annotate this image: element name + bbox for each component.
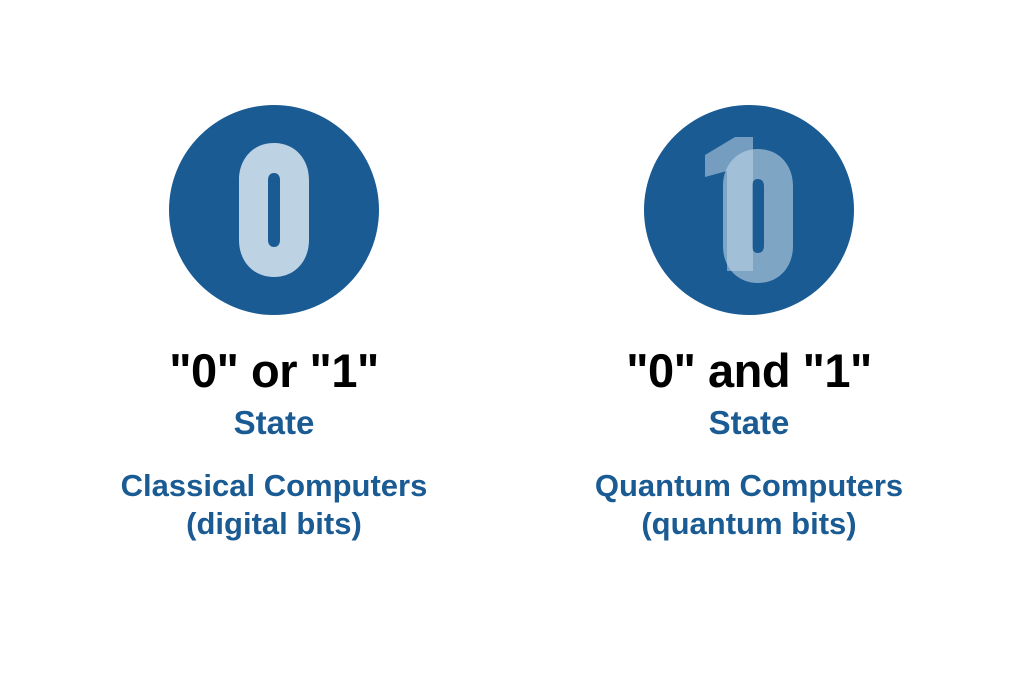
digit-zero-glyph [723,149,793,283]
digit-zero-badge-icon [169,105,379,315]
classical-state-label: State [234,405,315,441]
classical-caption-line-2: (digital bits) [121,505,428,543]
quantum-text-block: "0" and "1" State Quantum Computers (qua… [512,315,987,543]
quantum-state-label: State [709,405,790,441]
classical-text-block: "0" or "1" State Classical Computers (di… [37,315,512,543]
column-quantum: "0" and "1" State Quantum Computers (qua… [512,105,987,543]
quantum-caption-line-1: Quantum Computers [595,467,903,505]
classical-caption: Classical Computers (digital bits) [121,467,428,543]
quantum-caption: Quantum Computers (quantum bits) [595,467,903,543]
quantum-caption-line-2: (quantum bits) [595,505,903,543]
column-classical: "0" or "1" State Classical Computers (di… [37,105,512,543]
digit-zero-and-one-superposition-badge-icon [644,105,854,315]
classical-caption-line-1: Classical Computers [121,467,428,505]
classical-bit-badge [169,105,379,315]
classical-headline: "0" or "1" [169,346,379,396]
infographic-root: "0" or "1" State Classical Computers (di… [0,0,1023,686]
quantum-headline: "0" and "1" [626,346,872,396]
quantum-bit-badge [644,105,854,315]
